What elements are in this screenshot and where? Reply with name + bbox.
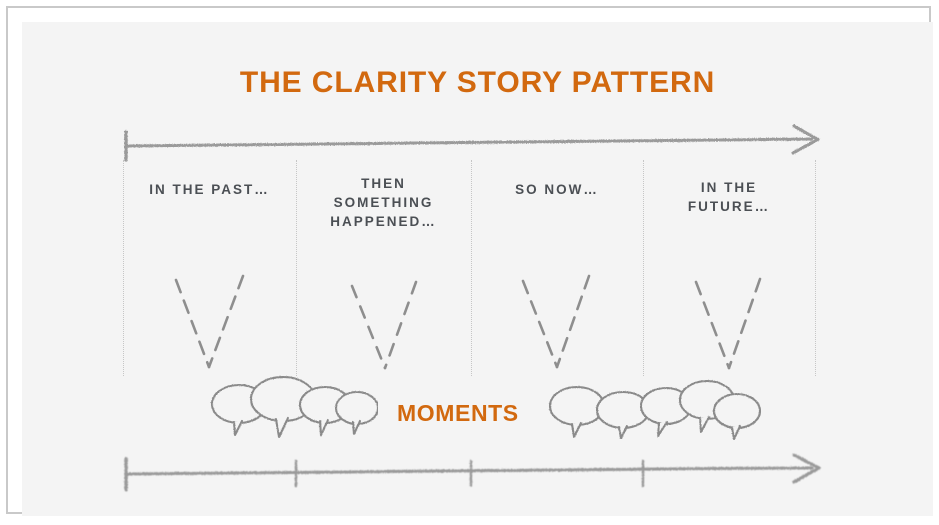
columns-region: IN THE PAST… THEN SOMETHING HAPPENED… SO… (22, 22, 933, 516)
column-label-line: HAPPENED… (296, 212, 471, 231)
moments-label: MOMENTS (397, 400, 519, 427)
column-label-so-now: SO NOW… (471, 180, 643, 199)
dashed-v-icon (344, 268, 426, 378)
speech-bubble-cluster-icon-left (208, 372, 378, 440)
column-label-line: IN THE PAST… (123, 180, 296, 199)
dashed-v-icon (688, 268, 770, 378)
column-label-line: SO NOW… (471, 180, 643, 199)
speech-bubble-cluster-icon-right (545, 370, 765, 440)
screenshot-root: THE CLARITY STORY PATTERN (0, 0, 939, 525)
dashed-v-icon (169, 268, 251, 378)
column-label-in-the-past: IN THE PAST… (123, 180, 296, 199)
column-label-then-something-happened: THEN SOMETHING HAPPENED… (296, 174, 471, 231)
column-label-line: FUTURE… (643, 197, 815, 216)
dashed-v-icon (516, 268, 598, 378)
column-label-in-the-future: IN THE FUTURE… (643, 178, 815, 216)
slide-frame: THE CLARITY STORY PATTERN (6, 6, 931, 514)
column-label-line: SOMETHING (296, 193, 471, 212)
slide-canvas: THE CLARITY STORY PATTERN (22, 22, 933, 516)
column-label-line: IN THE (643, 178, 815, 197)
column-label-line: THEN (296, 174, 471, 193)
column-divider (815, 160, 816, 376)
